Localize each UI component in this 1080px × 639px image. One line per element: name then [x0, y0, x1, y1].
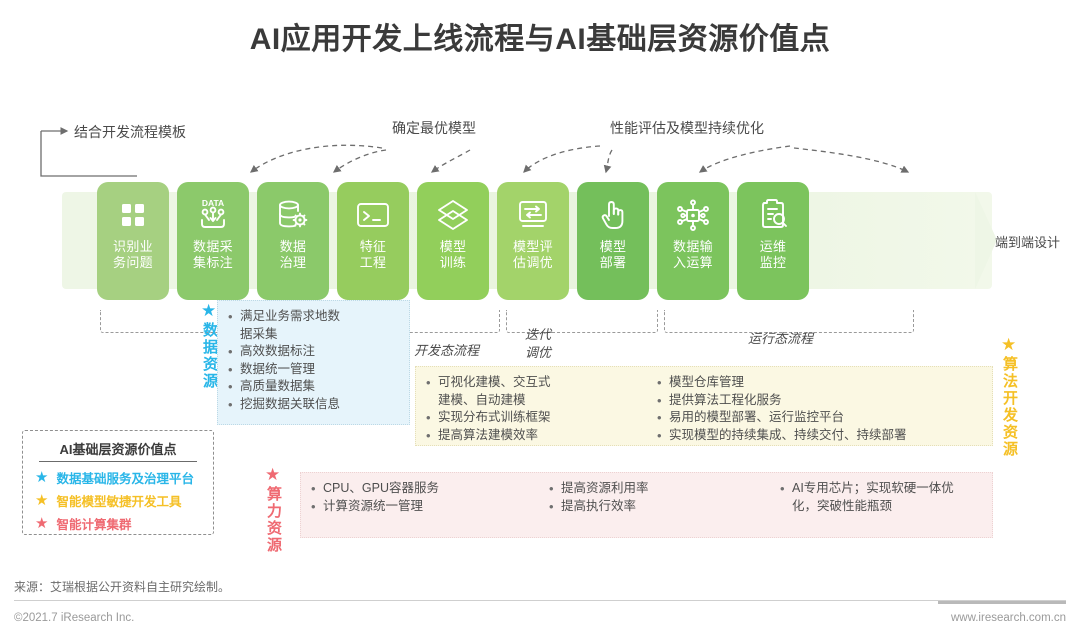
bullet-dot: •: [311, 498, 323, 516]
end-to-end-label: 端到端设计: [995, 232, 1060, 251]
pipeline-step-2[interactable]: DATA数据采集标注: [177, 182, 249, 300]
legend-star-icon: ★: [35, 493, 48, 508]
copyright-note: ©2021.7 iResearch Inc.: [14, 612, 134, 624]
list-item-label: 高效数据标注: [240, 343, 403, 361]
list-item: •提高算法建模效率: [426, 427, 641, 445]
bullet-dot: •: [228, 343, 240, 361]
bullet-dot: •: [657, 392, 669, 410]
bullet-dot: •: [426, 374, 438, 392]
data-resource-label: 数据资源: [200, 322, 218, 390]
list-item-label: 提高算法建模效率: [438, 427, 641, 445]
data-resource-panel: •满足业务需求地数•据采集•高效数据标注•数据统一管理•高质量数据集•挖掘数据关…: [217, 300, 410, 425]
data-resource-star: ★: [201, 302, 216, 319]
compute-resource-label: 算力资源: [264, 486, 282, 554]
data-collect-icon: DATA: [194, 195, 232, 235]
list-item-label: 提高执行效率: [561, 498, 764, 516]
list-item-label: 挖掘数据关联信息: [240, 396, 403, 414]
legend-item-label: 数据基础服务及治理平台: [56, 468, 194, 487]
legend-items: ★数据基础服务及治理平台★智能模型敏捷开发工具★智能计算集群: [33, 468, 203, 533]
list-item: •数据统一管理: [228, 361, 403, 379]
cube-model-icon: [435, 195, 471, 235]
infographic-page: AI应用开发上线流程与AI基础层资源价值点 结合开发流程模板 确定最优模型 性能…: [0, 0, 1080, 639]
legend-box: AI基础层资源价值点 ★数据基础服务及治理平台★智能模型敏捷开发工具★智能计算集…: [22, 430, 214, 535]
database-gear-icon: [274, 195, 312, 235]
bullet-dot: •: [311, 480, 323, 498]
list-item: •易用的模型部署、运行监控平台: [657, 409, 986, 427]
list-item: •实现模型的持续集成、持续交付、持续部署: [657, 427, 986, 445]
list-item-label: CPU、GPU容器服务: [323, 480, 533, 498]
group-label-iterate: 迭代 调优: [525, 326, 551, 362]
bullet-dot: •: [657, 374, 669, 392]
list-item: •CPU、GPU容器服务: [311, 480, 533, 498]
pipeline-step-6[interactable]: 模型评估调优: [497, 182, 569, 300]
pipeline-step-label: 模型训练: [440, 239, 467, 271]
list-item-label: 化，突破性能瓶颈: [792, 498, 986, 516]
pipeline-step-4[interactable]: 特征工程: [337, 182, 409, 300]
pipeline-step-label: 数据采集标注: [193, 239, 233, 271]
pipeline-step-label: 特征工程: [360, 239, 387, 271]
list-item-label: 提供算法工程化服务: [669, 392, 986, 410]
legend-item-2: ★智能模型敏捷开发工具: [35, 491, 203, 510]
bullet-dot: •: [657, 427, 669, 445]
list-item: •据采集: [228, 326, 403, 344]
list-item-label: 建模、自动建模: [438, 392, 641, 410]
algorithm-resource-panel: •可视化建模、交互式•建模、自动建模•实现分布式训练框架•提高算法建模效率 •模…: [415, 366, 993, 446]
source-note: 来源：艾瑞根据公开资料自主研究绘制。: [14, 578, 1066, 601]
list-item: •高效数据标注: [228, 343, 403, 361]
bullet-dot: •: [657, 409, 669, 427]
list-item-label: 高质量数据集: [240, 378, 403, 396]
group-label-iterate-line2: 调优: [525, 345, 551, 360]
compute-list-column-a: •CPU、GPU容器服务•计算资源统一管理: [301, 473, 539, 537]
list-item: •提高资源利用率: [549, 480, 764, 498]
list-item-label: 数据统一管理: [240, 361, 403, 379]
compute-list-column-c: •AI专用芯片；实现软硬一体优•化，突破性能瓶颈: [770, 473, 992, 537]
group-label-iterate-line1: 迭代: [525, 327, 551, 342]
bullet-dot: •: [228, 308, 240, 326]
legend-item-1: ★数据基础服务及治理平台: [35, 468, 203, 487]
list-item-label: 模型仓库管理: [669, 374, 986, 392]
annotation-performance: 性能评估及模型持续优化: [610, 118, 764, 138]
compute-resource-panel: •CPU、GPU容器服务•计算资源统一管理 •提高资源利用率•提高执行效率 •A…: [300, 472, 993, 538]
pipeline-arrow-tip: [975, 192, 997, 289]
list-item: •提高执行效率: [549, 498, 764, 516]
legend-star-icon: ★: [35, 470, 48, 485]
bullet-dot: •: [549, 480, 561, 498]
list-item: •可视化建模、交互式: [426, 374, 641, 392]
list-item: •计算资源统一管理: [311, 498, 533, 516]
pipeline-step-label: 运维监控: [760, 239, 787, 271]
bullet-dot: •: [228, 378, 240, 396]
footer-bar: [938, 601, 1066, 604]
terminal-icon: [354, 195, 392, 235]
hand-click-icon: [596, 195, 630, 235]
chip-network-icon: [674, 195, 712, 235]
algorithm-list-column-b: •模型仓库管理•提供算法工程化服务•易用的模型部署、运行监控平台•实现模型的持续…: [647, 367, 992, 445]
list-item: •AI专用芯片；实现软硬一体优: [780, 480, 986, 498]
list-item: •挖掘数据关联信息: [228, 396, 403, 414]
compute-list-column-b: •提高资源利用率•提高执行效率: [539, 473, 770, 537]
evaluate-tune-icon: [515, 195, 551, 235]
list-item: •模型仓库管理: [657, 374, 986, 392]
pipeline-step-3[interactable]: 数据治理: [257, 182, 329, 300]
pipeline-step-1[interactable]: 识别业务问题: [97, 182, 169, 300]
bullet-dot: •: [426, 409, 438, 427]
legend-item-label: 智能计算集群: [56, 514, 131, 533]
pipeline-step-5[interactable]: 模型训练: [417, 182, 489, 300]
pipeline-step-label: 数据治理: [280, 239, 307, 271]
list-item-label: 实现分布式训练框架: [438, 409, 641, 427]
bullet-dot: •: [549, 498, 561, 516]
pipeline-step-label: 模型部署: [600, 239, 627, 271]
legend-title: AI基础层资源价值点: [39, 439, 197, 462]
list-item: •满足业务需求地数: [228, 308, 403, 326]
pipeline-step-7[interactable]: 模型部署: [577, 182, 649, 300]
pipeline-step-label: 数据输入运算: [673, 239, 713, 271]
list-item-label: 实现模型的持续集成、持续交付、持续部署: [669, 427, 986, 445]
bullet-dot: •: [228, 361, 240, 379]
legend-star-icon: ★: [35, 516, 48, 531]
algorithm-list-column-a: •可视化建模、交互式•建模、自动建模•实现分布式训练框架•提高算法建模效率: [416, 367, 647, 445]
pipeline-steps: 识别业务问题DATA数据采集标注数据治理特征工程模型训练模型评估调优模型部署数据…: [97, 182, 809, 300]
list-item-label: 计算资源统一管理: [323, 498, 533, 516]
annotation-best-model: 确定最优模型: [392, 118, 476, 138]
legend-item-label: 智能模型敏捷开发工具: [56, 491, 181, 510]
list-item: •提供算法工程化服务: [657, 392, 986, 410]
pipeline-step-label: 模型评估调优: [513, 239, 553, 271]
compute-resource-star: ★: [265, 466, 280, 483]
data-resource-list: •满足业务需求地数•据采集•高效数据标注•数据统一管理•高质量数据集•挖掘数据关…: [218, 301, 409, 419]
group-label-runtime: 运行态流程: [748, 328, 813, 347]
list-item: •建模、自动建模: [426, 392, 641, 410]
clipboard-search-icon: [756, 195, 790, 235]
grid-squares-icon: [116, 195, 150, 235]
pipeline-step-9[interactable]: 运维监控: [737, 182, 809, 300]
list-item-label: AI专用芯片；实现软硬一体优: [792, 480, 986, 498]
website-link[interactable]: www.iresearch.com.cn: [951, 612, 1066, 624]
list-item-label: 提高资源利用率: [561, 480, 764, 498]
pipeline-step-label: 识别业务问题: [113, 239, 153, 271]
group-label-dev: 开发态流程: [414, 340, 479, 359]
list-item: •化，突破性能瓶颈: [780, 498, 986, 516]
page-title: AI应用开发上线流程与AI基础层资源价值点: [0, 14, 1080, 58]
list-item-label: 易用的模型部署、运行监控平台: [669, 409, 986, 427]
bullet-dot: •: [228, 396, 240, 414]
algorithm-resource-star: ★: [1001, 336, 1016, 353]
list-item-label: 满足业务需求地数: [240, 308, 403, 326]
list-item-label: 可视化建模、交互式: [438, 374, 641, 392]
bullet-dot: •: [426, 427, 438, 445]
bullet-dot: •: [780, 480, 792, 498]
list-item: •实现分布式训练框架: [426, 409, 641, 427]
pipeline-step-8[interactable]: 数据输入运算: [657, 182, 729, 300]
legend-item-3: ★智能计算集群: [35, 514, 203, 533]
annotation-template: 结合开发流程模板: [74, 122, 186, 142]
algorithm-resource-label: 算法开发资源: [1000, 356, 1018, 458]
list-item-label: 据采集: [240, 326, 403, 344]
svg-text:DATA: DATA: [202, 198, 224, 208]
list-item: •高质量数据集: [228, 378, 403, 396]
